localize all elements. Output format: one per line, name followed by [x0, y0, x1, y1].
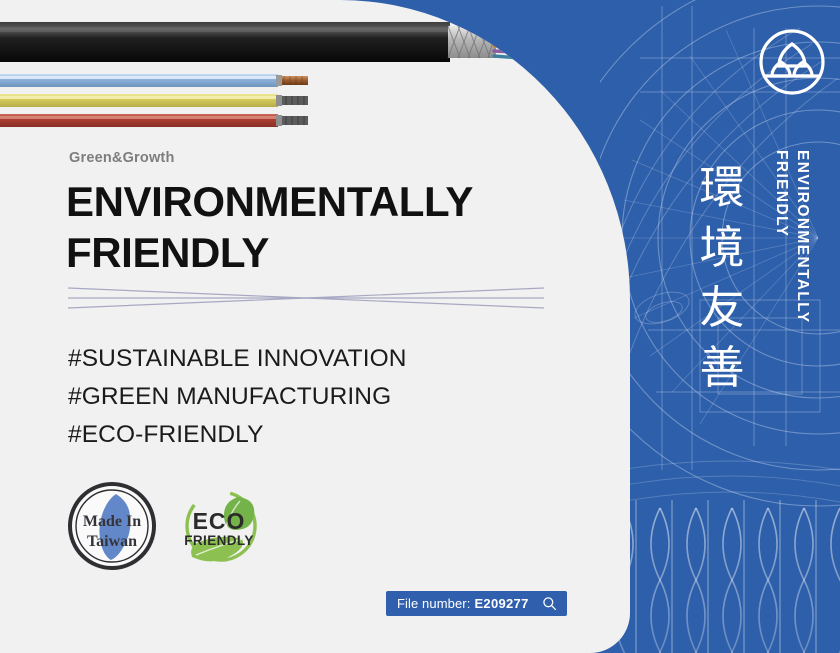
- hashtag-list: #SUSTAINABLE INNOVATION #GREEN MANUFACTU…: [68, 340, 407, 454]
- made-in-taiwan-line2: Taiwan: [87, 533, 137, 550]
- hashtag-item-3: #ECO-FRIENDLY: [68, 416, 407, 454]
- made-in-taiwan-line1: Made In: [83, 513, 141, 530]
- made-in-taiwan-badge: Made In Taiwan: [66, 480, 158, 572]
- eyebrow-label: Green&Growth: [69, 150, 175, 166]
- search-icon[interactable]: [542, 596, 557, 611]
- company-logo: [756, 26, 828, 98]
- eco-friendly-line2: FRIENDLY: [184, 533, 253, 548]
- poster-canvas: 環 境 友 善 ENVIRONMENTALLY FRIENDLY: [0, 0, 840, 653]
- vertical-subtitle: ENVIRONMENTALLY FRIENDLY: [770, 150, 812, 360]
- eco-friendly-badge: ECO FRIENDLY: [178, 481, 264, 571]
- hashtag-item-2: #GREEN MANUFACTURING: [68, 378, 407, 416]
- file-number-label: File number:: [397, 596, 470, 611]
- cjk-char-4: 善: [696, 338, 748, 398]
- content-card: Green&Growth ENVIRONMENTALLY FRIENDLY #S…: [0, 0, 630, 653]
- eco-friendly-line1: ECO: [193, 508, 246, 534]
- hashtag-item-1: #SUSTAINABLE INNOVATION: [68, 340, 407, 378]
- cable-illustration: [0, 0, 560, 135]
- file-number-badge[interactable]: File number: E209277: [386, 591, 567, 616]
- cjk-char-1: 環: [696, 158, 748, 218]
- page-title: ENVIRONMENTALLY FRIENDLY: [66, 176, 473, 278]
- certification-badges: Made In Taiwan ECO FRIENDLY: [66, 480, 264, 572]
- page-title-line2: FRIENDLY: [66, 227, 473, 278]
- vertical-subtitle-line2: FRIENDLY: [773, 150, 790, 237]
- cjk-char-3: 友: [696, 278, 748, 338]
- vertical-subtitle-line1: ENVIRONMENTALLY: [794, 150, 811, 323]
- cjk-char-2: 境: [696, 218, 748, 278]
- file-number-value: E209277: [474, 596, 528, 611]
- page-title-line1: ENVIRONMENTALLY: [66, 176, 473, 227]
- decorative-divider: [66, 276, 546, 320]
- cjk-title: 環 境 友 善: [696, 158, 748, 398]
